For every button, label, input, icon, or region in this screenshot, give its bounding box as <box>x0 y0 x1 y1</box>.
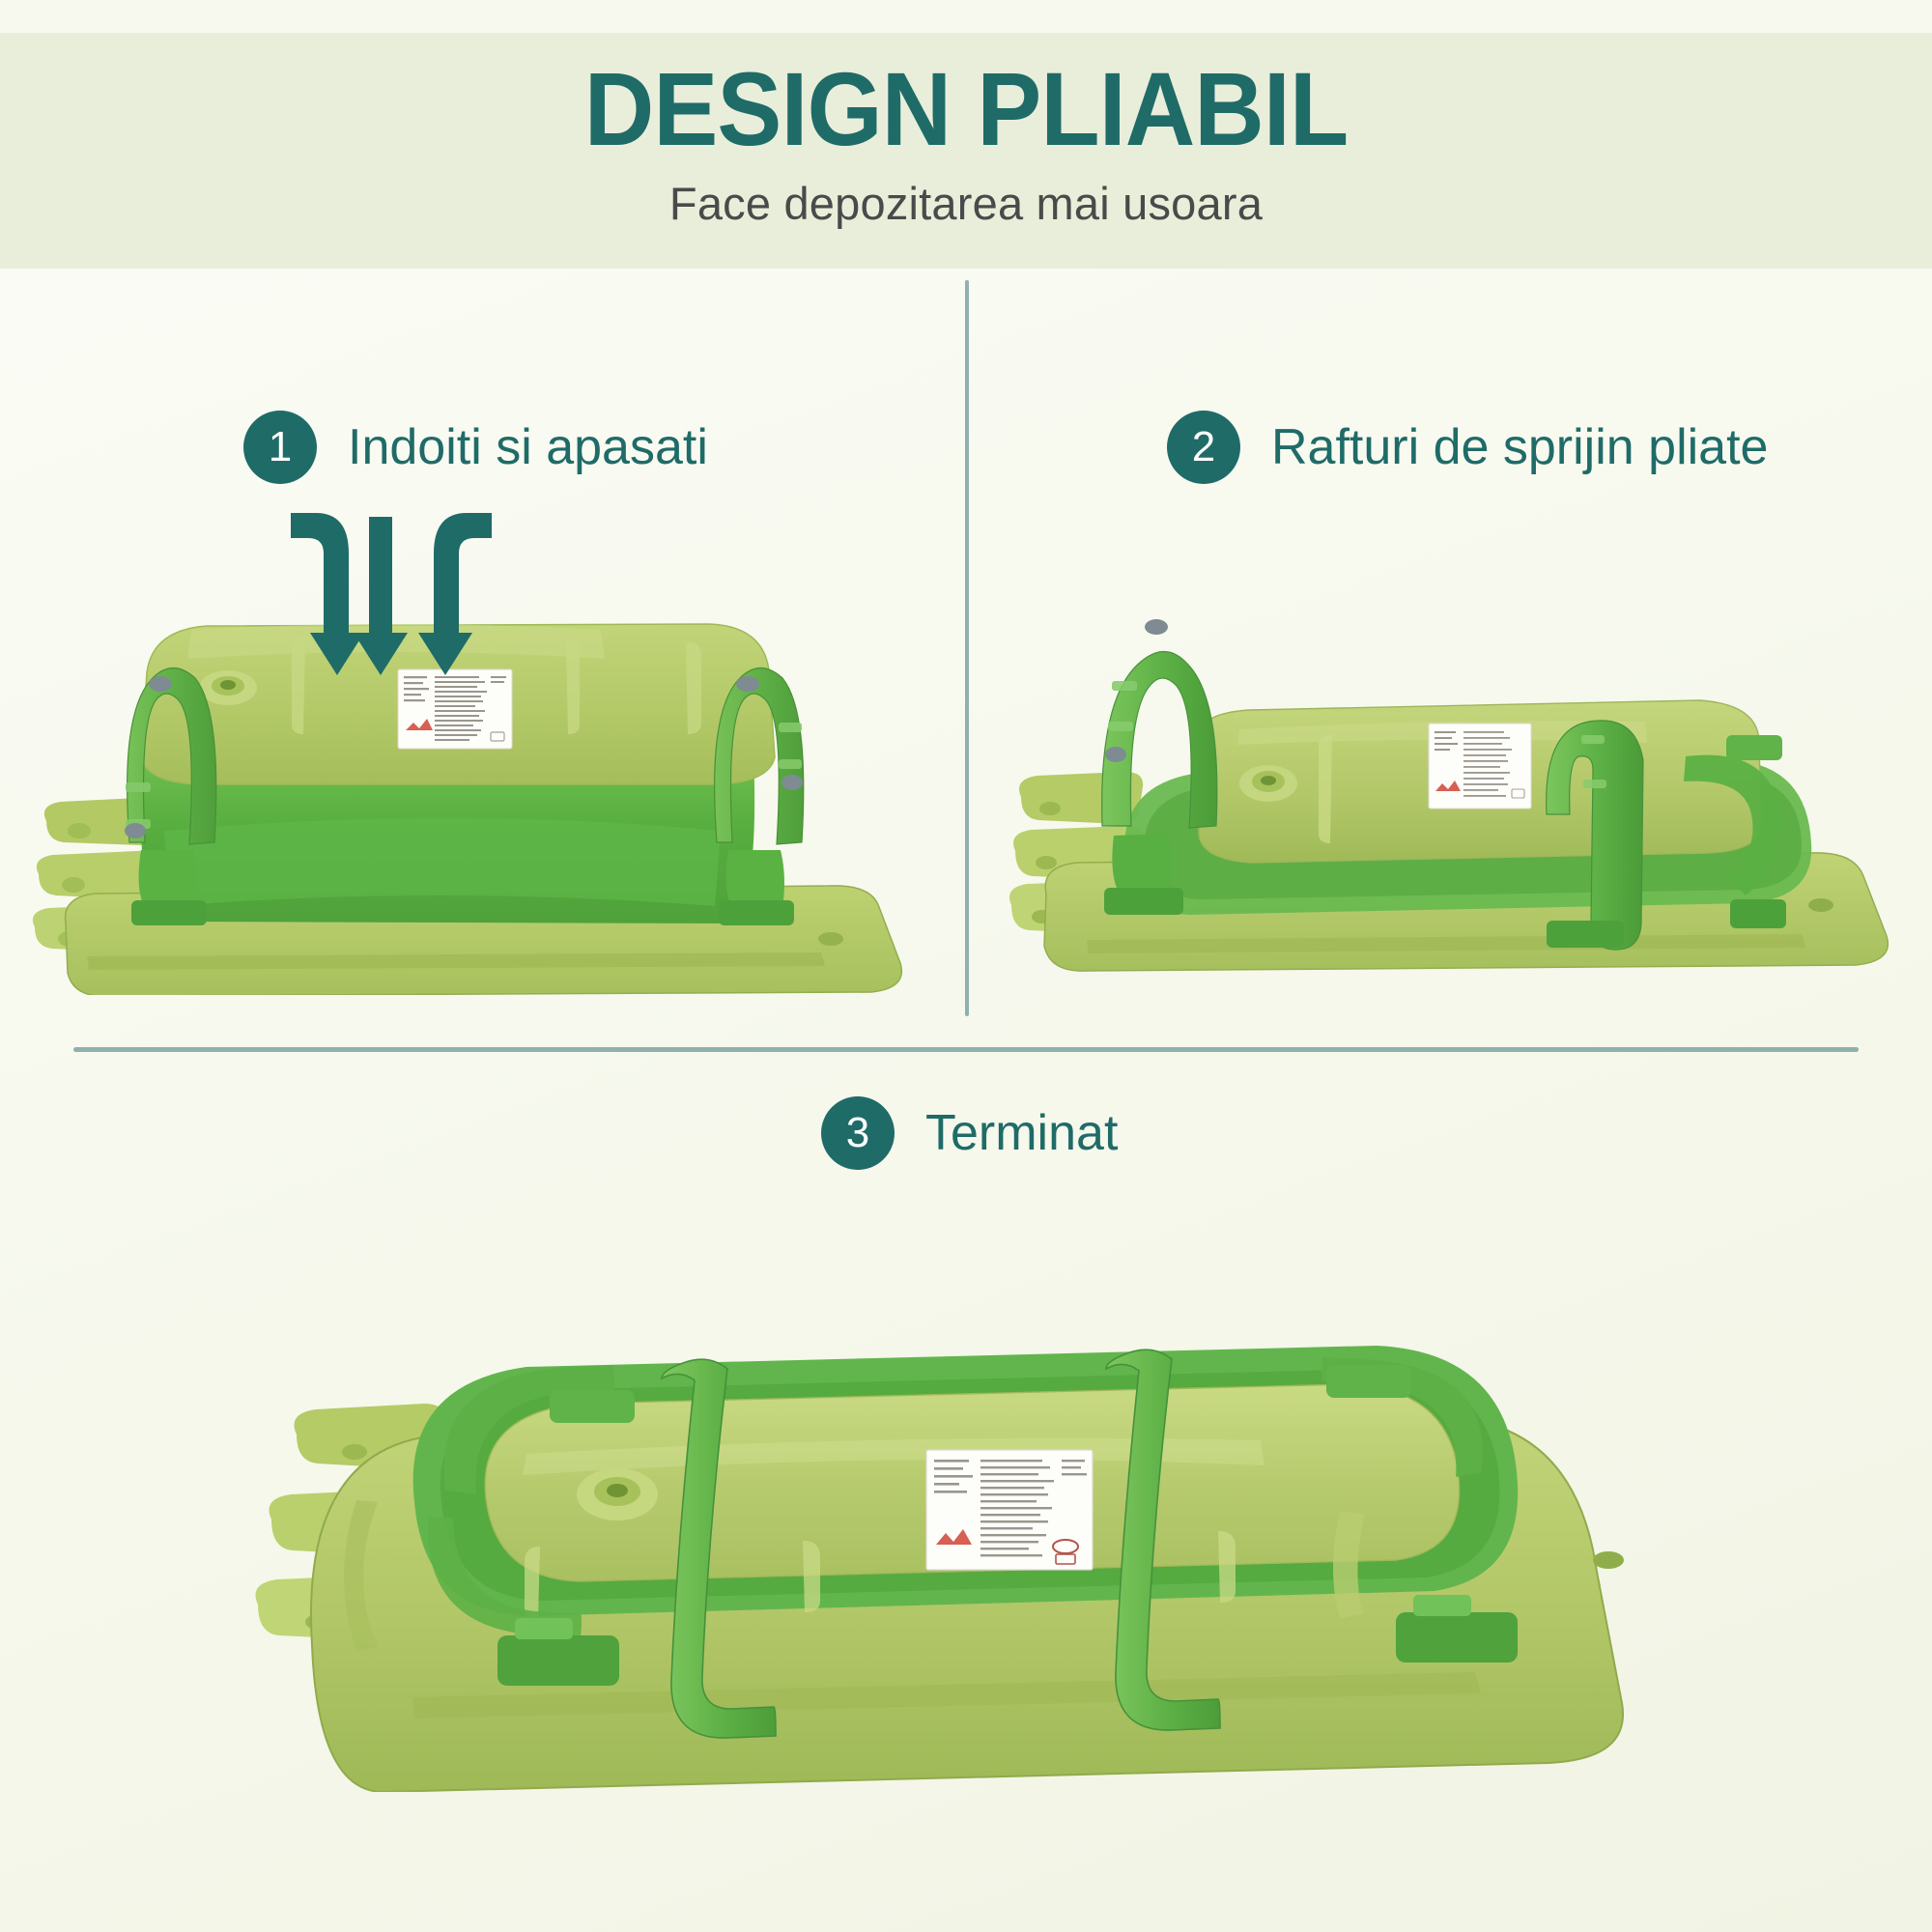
step-header-1: 1 Indoiti si apasati <box>243 411 708 484</box>
step-label-2: Rafturi de sprijin pliate <box>1271 418 1768 476</box>
warning-label-sticker <box>1429 724 1531 809</box>
arrow-down-curved-left-icon <box>291 513 364 675</box>
tub-fully-folded-illustration <box>208 1212 1724 1792</box>
product-image-step-2 <box>1009 555 1908 995</box>
top-strip <box>0 0 1932 33</box>
drain-knob <box>199 670 257 705</box>
page-title: DESIGN PLIABIL <box>584 54 1349 163</box>
step-badge-2: 2 <box>1167 411 1240 484</box>
warning-label-sticker <box>926 1450 1093 1570</box>
step-header-3: 3 Terminat <box>821 1096 1118 1170</box>
arrow-down-straight-icon <box>354 517 408 675</box>
step-label-3: Terminat <box>925 1104 1118 1162</box>
step-badge-3: 3 <box>821 1096 895 1170</box>
page-subtitle: Face depozitarea mai usoara <box>669 177 1263 230</box>
vertical-divider <box>965 280 969 1016</box>
drain-knob <box>1239 765 1297 802</box>
step-header-2: 2 Rafturi de sprijin pliate <box>1167 411 1768 484</box>
press-down-arrows <box>285 507 497 710</box>
horizontal-divider <box>73 1047 1859 1052</box>
arrow-down-curved-right-icon <box>418 513 492 675</box>
product-image-step-3 <box>208 1212 1724 1792</box>
infographic-canvas: DESIGN PLIABIL Face depozitarea mai usoa… <box>0 0 1932 1932</box>
drain-knob <box>577 1468 658 1520</box>
header-band: DESIGN PLIABIL Face depozitarea mai usoa… <box>0 33 1932 269</box>
tub-partially-folded-illustration <box>1009 555 1908 995</box>
step-badge-1: 1 <box>243 411 317 484</box>
step-label-1: Indoiti si apasati <box>348 418 708 476</box>
